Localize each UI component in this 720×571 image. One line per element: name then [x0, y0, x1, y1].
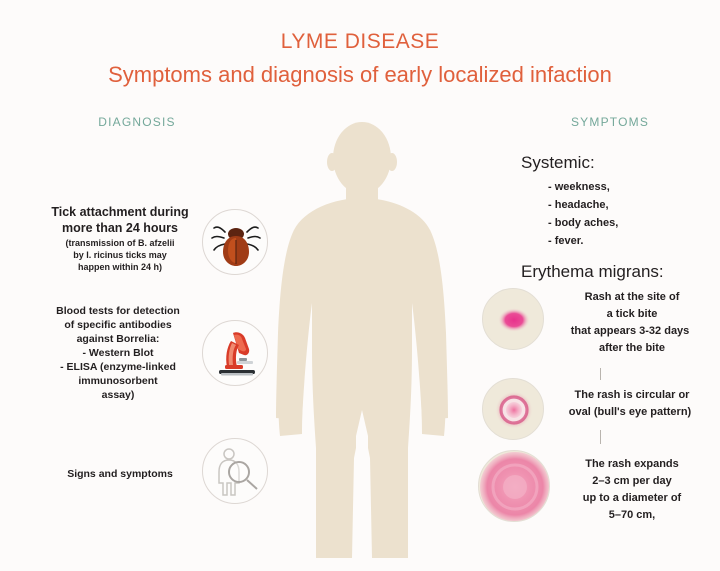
rash-stage3-line3: up to a diameter of [546, 491, 718, 507]
microscope-icon[interactable] [202, 320, 268, 386]
bloodtest-line2: of specific antibodies [38, 319, 198, 332]
rash-stage3-line1: The rash expands [546, 457, 718, 473]
tick-heading-line1: Tick attachment during [45, 205, 195, 221]
bloodtest-line7: assay) [38, 389, 198, 402]
systemic-heading: Systemic: [521, 153, 595, 173]
patient-exam-icon[interactable] [202, 438, 268, 504]
systemic-item-headache: - headache, [548, 198, 609, 214]
rash-stage2-line1: The rash is circular or [546, 388, 718, 404]
tick-icon[interactable] [202, 209, 268, 275]
systemic-item-body-aches: - body aches, [548, 216, 618, 232]
rash-spot-icon[interactable] [482, 288, 544, 350]
rash-stage2-line2: oval (bull's eye pattern) [540, 405, 720, 421]
connector-line-1 [600, 368, 601, 380]
rash-bullseye-icon[interactable] [482, 378, 544, 440]
rash-stage1-line4: after the bite [546, 341, 718, 357]
tick-heading-line2: more than 24 hours [45, 221, 195, 237]
connector-line-2 [600, 430, 601, 444]
tick-note-line2: by I. ricinus ticks may [45, 250, 195, 261]
page-title: LYME DISEASE [0, 30, 720, 54]
rash-stage1-line1: Rash at the site of [546, 290, 718, 306]
section-header-diagnosis: DIAGNOSIS [52, 115, 222, 129]
rash-stage3-line4: 5–70 cm, [546, 508, 718, 524]
human-body-silhouette [272, 118, 452, 558]
rash-stage3-line2: 2–3 cm per day [546, 474, 718, 490]
tick-note-line3: happen within 24 h) [45, 262, 195, 273]
tick-note-line1: (transmission of B. afzelii [45, 238, 195, 249]
erythema-heading: Erythema migrans: [521, 262, 664, 282]
rash-stage1-line2: a tick bite [546, 307, 718, 323]
infographic-canvas: LYME DISEASE Symptoms and diagnosis of e… [0, 0, 720, 571]
bloodtest-line6: immunosorbent [38, 375, 198, 388]
bloodtest-line4: - Western Blot [38, 347, 198, 360]
bloodtest-line3: against Borrelia: [38, 333, 198, 346]
rash-expanded-icon[interactable] [478, 450, 550, 522]
rash-stage1-line3: that appears 3-32 days [540, 324, 720, 340]
page-subtitle: Symptoms and diagnosis of early localize… [0, 62, 720, 88]
systemic-item-fever: - fever. [548, 234, 583, 250]
bloodtest-line5: - ELISA (enzyme-linked [38, 361, 198, 374]
section-header-symptoms: SYMPTOMS [510, 115, 710, 129]
bloodtest-line1: Blood tests for detection [38, 305, 198, 318]
signs-symptoms-line1: Signs and symptoms [45, 468, 195, 481]
systemic-item-weakness: - weekness, [548, 180, 610, 196]
